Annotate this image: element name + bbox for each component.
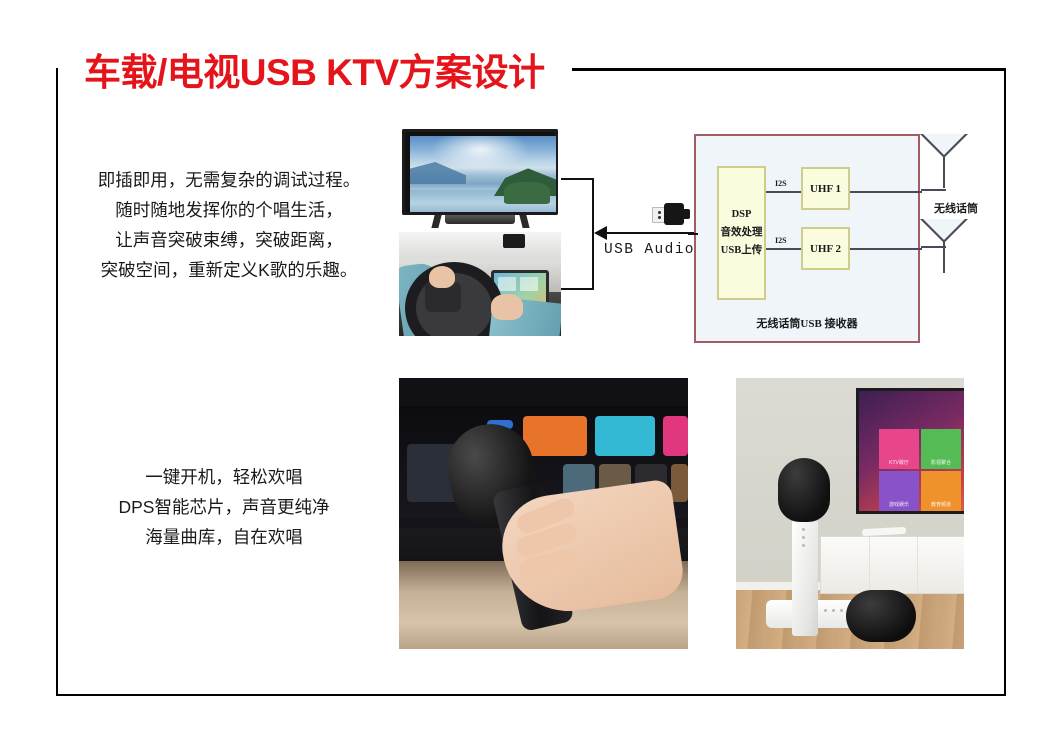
dsp-line-3: USB上传	[721, 242, 762, 260]
driver-left-hand	[429, 266, 455, 288]
tv-stand-foot-right	[519, 215, 529, 228]
tv-app-tile-3: 游戏娱乐	[879, 471, 919, 511]
copy-bottom-line-2: DPS智能芯片，声音更纯净	[74, 492, 374, 522]
diagram-antenna-line-1	[850, 191, 922, 193]
media-screen-thumb-4	[671, 464, 688, 502]
slide-frame-right-border	[1004, 68, 1006, 696]
wall-mounted-tv: KTV歌厅 影视聚合 游戏娱乐 教育频道	[856, 388, 964, 514]
diagram-block-uhf-1: UHF 1	[801, 167, 850, 210]
tv-screen-landscape-image	[410, 136, 556, 212]
copy-top-line-3: 让声音突破束缚，突破距离，	[74, 225, 384, 255]
mic-1-button-3	[802, 544, 805, 547]
dsp-line-1: DSP	[732, 206, 752, 224]
tv-cabinet	[820, 536, 964, 594]
diagram-bus-label-i2s-2: I2S	[775, 236, 787, 245]
tv-app-tile-3-label: 游戏娱乐	[879, 501, 919, 508]
connector-line-from-car	[561, 288, 594, 290]
diagram-caption: 无线话筒USB 接收器	[696, 315, 918, 331]
copy-top-line-4: 突破空间，重新定义K歌的乐趣。	[74, 255, 384, 285]
microphone-2-foam-head	[846, 590, 916, 642]
feature-description-bottom: 一键开机，轻松欢唱 DPS智能芯片，声音更纯净 海量曲库，自在欢唱	[74, 462, 374, 552]
dsp-line-2: 音效处理	[721, 224, 763, 242]
media-screen-tile-cyan	[595, 416, 655, 456]
diagram-block-dsp: DSP 音效处理 USB上传	[717, 166, 766, 300]
tv-app-tile-4: 教育频道	[921, 471, 961, 511]
copy-bottom-line-1: 一键开机，轻松欢唱	[74, 462, 374, 492]
microphone-1-foam-head	[778, 458, 830, 522]
cabinet-divider-2	[917, 537, 918, 593]
arrow-left-icon	[594, 226, 607, 240]
diagram-bus-line-i2s-2	[766, 248, 801, 250]
usb-connector-icon	[652, 203, 690, 225]
usb-audio-label: USB Audio	[604, 242, 695, 258]
diagram-bus-line-i2s-1	[766, 191, 801, 193]
passenger-hand-touching-screen	[491, 294, 523, 320]
tv-screen-hill-left	[410, 162, 466, 184]
tv-screen-trees	[504, 182, 550, 204]
diagram-block-uhf-2: UHF 2	[801, 227, 850, 270]
usb-plug-cable-tip	[683, 209, 690, 219]
copy-top-line-1: 即插即用，无需复杂的调试过程。	[74, 165, 384, 195]
mic-1-button-2	[802, 536, 805, 539]
mic-2-button-2	[832, 609, 835, 612]
tv-app-tile-1-label: KTV歌厅	[879, 459, 919, 466]
antenna-1-lead-line	[921, 189, 946, 191]
usb-plug-shell	[664, 203, 684, 225]
cabinet-divider-1	[869, 537, 870, 593]
mic-2-button-3	[840, 609, 843, 612]
tv-app-tile-4-label: 教育频道	[921, 501, 961, 508]
mic-1-button-1	[802, 528, 805, 531]
tv-bezel	[402, 129, 558, 215]
diagram-bus-label-i2s-1: I2S	[775, 179, 787, 188]
antenna-1-mast	[943, 156, 945, 188]
car-screen-tile-2	[520, 277, 538, 291]
microphone-1-body-standing	[792, 518, 818, 636]
tv-app-tile-1: KTV歌厅	[879, 429, 919, 469]
media-screen-tile-pink	[663, 416, 688, 456]
car-screen-tile-1	[498, 277, 516, 291]
hand-holding-microphone-in-car-photo	[399, 378, 688, 649]
tv-stand-foot-left	[431, 215, 441, 228]
connector-line-from-tv	[561, 178, 594, 180]
antenna-2-triangle	[920, 219, 968, 243]
mic-2-button-1	[824, 609, 827, 612]
antenna-1-triangle	[920, 134, 968, 158]
page-title: 车载/电视USB KTV方案设计	[84, 42, 545, 96]
slide-frame-left-border	[56, 68, 58, 696]
feature-description-top: 即插即用，无需复杂的调试过程。 随时随地发挥你的个唱生活， 让声音突破束缚，突破…	[74, 165, 384, 285]
diagram-antenna-line-2	[850, 248, 922, 250]
car-windshield	[399, 232, 561, 258]
antenna-2-mast	[943, 241, 945, 273]
wireless-mic-usb-receiver-diagram: DSP 音效处理 USB上传 I2S I2S UHF 1 UHF 2 无线话筒U…	[694, 134, 920, 343]
copy-top-line-2: 随时随地发挥你的个唱生活，	[74, 195, 384, 225]
tv-app-tile-2-label: 影视聚合	[921, 459, 961, 466]
slide-frame-bottom-border	[56, 694, 1006, 696]
media-screen-tile-orange	[523, 416, 587, 456]
connector-line-usb-audio	[600, 232, 695, 234]
two-karaoke-microphones-living-room-photo: KTV歌厅 影视聚合 游戏娱乐 教育频道	[736, 378, 964, 649]
diagram-usb-input-stub	[688, 233, 698, 235]
tv-stand-bar	[445, 215, 515, 224]
car-mounted-phone	[503, 234, 525, 248]
slide-frame-top-border	[572, 68, 1006, 71]
car-interior-touchscreen-photo	[399, 232, 561, 336]
wireless-microphone-label: 无线话筒	[934, 200, 978, 216]
flat-screen-tv-photo	[399, 127, 561, 231]
copy-bottom-line-3: 海量曲库，自在欢唱	[74, 522, 374, 552]
tv-app-tile-2: 影视聚合	[921, 429, 961, 469]
